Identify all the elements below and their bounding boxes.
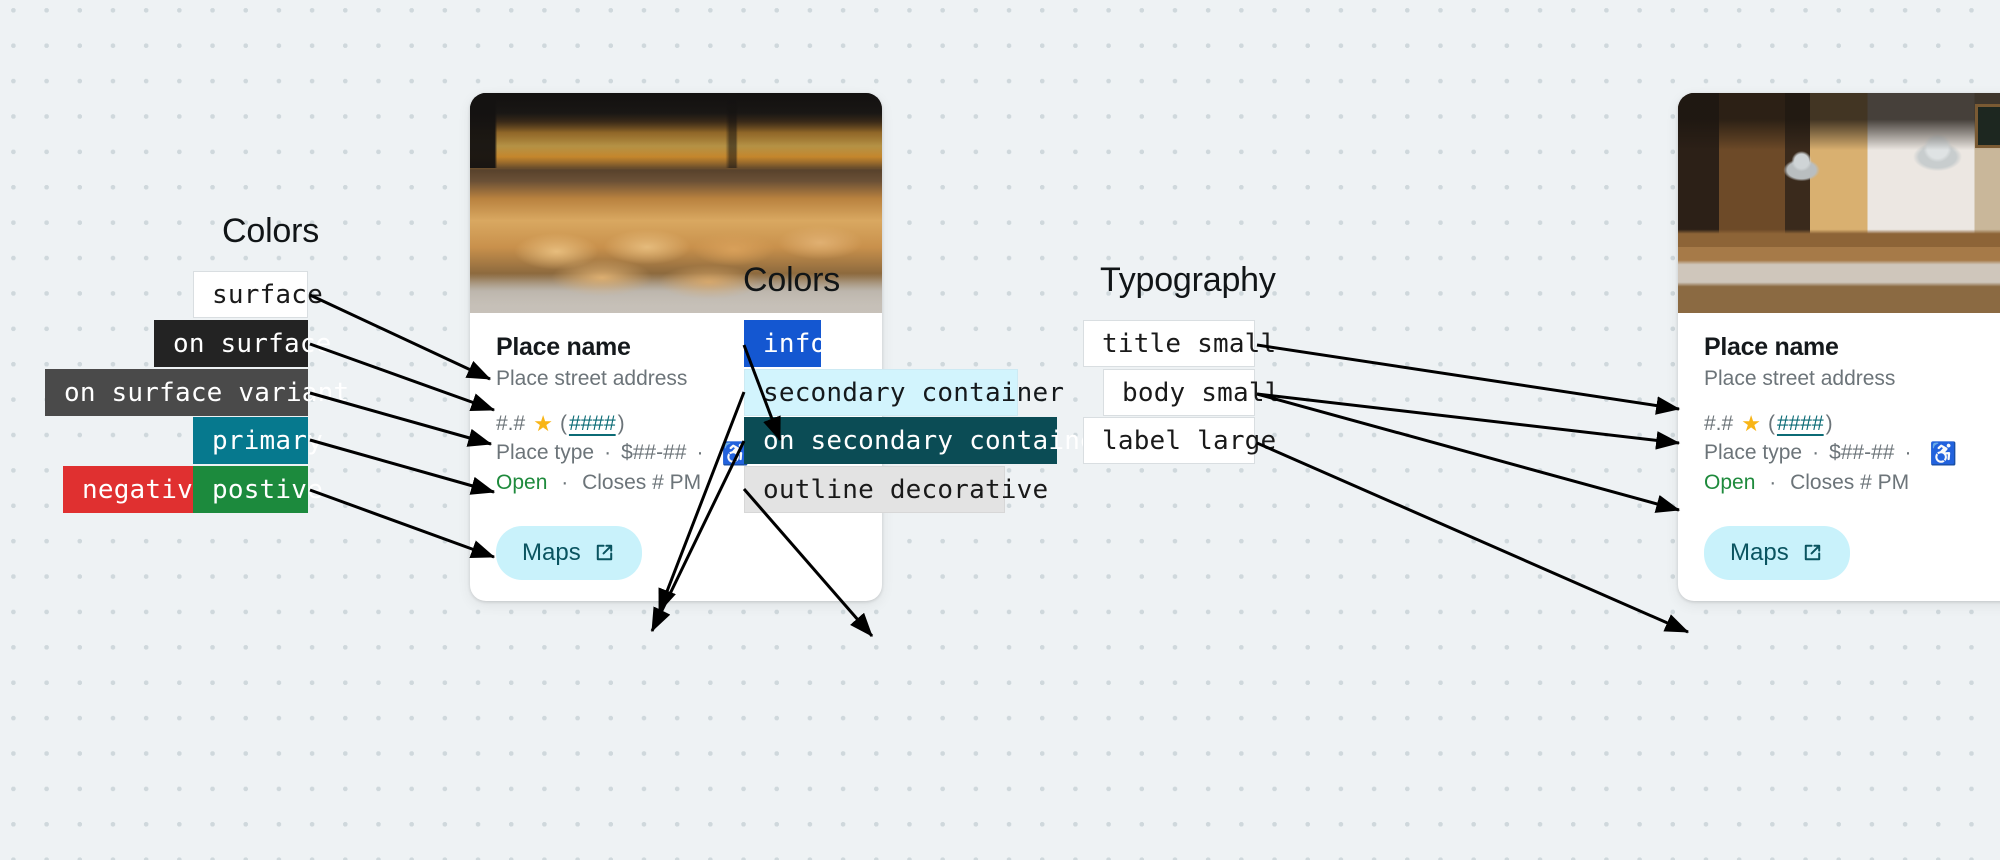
price-range: $##-##	[1829, 440, 1894, 466]
closing-time: Closes # PM	[1790, 471, 1909, 494]
place-address: Place street address	[1704, 366, 2000, 391]
color-chip-label: on surface	[173, 329, 332, 359]
meta-separator-2: ·	[696, 440, 703, 466]
open-in-new-icon	[593, 541, 616, 564]
price-range: $##-##	[621, 440, 686, 466]
color-chip-label: secondary container	[763, 378, 1064, 408]
paren-open: (	[1768, 411, 1775, 437]
type-chip-body-small[interactable]: body small	[1103, 369, 1255, 416]
color-chip-on-surface[interactable]: on surface	[154, 320, 308, 367]
color-chip-label: negative	[82, 475, 209, 505]
color-chip-postive[interactable]: postive	[193, 466, 308, 513]
place-type: Place type	[496, 440, 594, 466]
color-chip-label: surface	[212, 280, 323, 310]
hours-separator: ·	[561, 471, 568, 494]
rating-row: #.# ★ ( #### )	[1704, 411, 2000, 437]
paren-open: (	[560, 411, 567, 437]
maps-button-label: Maps	[522, 539, 581, 567]
paren-close: )	[1826, 411, 1833, 437]
arrow-surface	[310, 295, 490, 379]
place-name: Place name	[1704, 333, 2000, 361]
maps-button[interactable]: Maps	[496, 526, 642, 580]
color-chip-primary[interactable]: primary	[193, 417, 308, 464]
meta-separator-2: ·	[1904, 440, 1911, 466]
place-meta-row: Place type · $##-## · ♿	[1704, 440, 2000, 466]
color-chip-label: outline decorative	[763, 475, 1048, 505]
color-chip-info[interactable]: info	[744, 320, 821, 367]
typography-heading: Typography	[1100, 261, 1276, 300]
color-chip-secondary-container[interactable]: secondary container	[744, 369, 1018, 416]
maps-button[interactable]: Maps	[1704, 526, 1850, 580]
place-card-right[interactable]: Place name Place street address #.# ★ ( …	[1678, 93, 2000, 601]
star-icon: ★	[533, 413, 553, 435]
color-chip-label: primary	[212, 426, 323, 456]
type-chip-label: body small	[1122, 378, 1281, 408]
color-chip-surface[interactable]: surface	[193, 271, 308, 318]
color-chip-on-surface-variant[interactable]: on surface variant	[45, 369, 308, 416]
color-chip-outline-decorative[interactable]: outline decorative	[744, 466, 1005, 513]
color-chip-label: info	[763, 329, 826, 359]
hours-row: Open · Closes # PM	[1704, 470, 2000, 496]
color-chip-label: on surface variant	[64, 378, 349, 408]
type-chip-label: label large	[1102, 426, 1276, 456]
rating-value: #.#	[1704, 411, 1733, 437]
open-status: Open	[496, 471, 547, 494]
colors-left-heading: Colors	[222, 212, 319, 251]
open-in-new-icon	[1801, 541, 1824, 564]
review-count-link[interactable]: ####	[569, 411, 616, 437]
hours-separator: ·	[1769, 471, 1776, 494]
canvas-stage: Colors Colors Typography surface on surf…	[0, 0, 2000, 860]
color-chip-on-secondary-container[interactable]: on secondary container	[744, 417, 1057, 464]
color-chip-label: on secondary container	[763, 426, 1112, 456]
meta-separator-1: ·	[604, 440, 611, 466]
rating-value: #.#	[496, 411, 525, 437]
accessibility-icon: ♿	[1929, 443, 1956, 465]
review-count-link[interactable]: ####	[1777, 411, 1824, 437]
type-chip-label-large[interactable]: label large	[1083, 417, 1255, 464]
open-status: Open	[1704, 471, 1755, 494]
maps-button-label: Maps	[1730, 539, 1789, 567]
colors-middle-heading: Colors	[743, 261, 840, 300]
place-type: Place type	[1704, 440, 1802, 466]
paren-close: )	[618, 411, 625, 437]
star-icon: ★	[1741, 413, 1761, 435]
type-chip-label: title small	[1102, 329, 1276, 359]
type-chip-title-small[interactable]: title small	[1083, 320, 1255, 367]
closing-time: Closes # PM	[582, 471, 701, 494]
cafe-counter-interior-photo	[1678, 93, 2000, 313]
color-chip-label: postive	[212, 475, 323, 505]
place-card-body: Place name Place street address #.# ★ ( …	[1678, 313, 2000, 580]
meta-separator-1: ·	[1812, 440, 1819, 466]
color-chip-negative[interactable]: negative	[63, 466, 193, 513]
